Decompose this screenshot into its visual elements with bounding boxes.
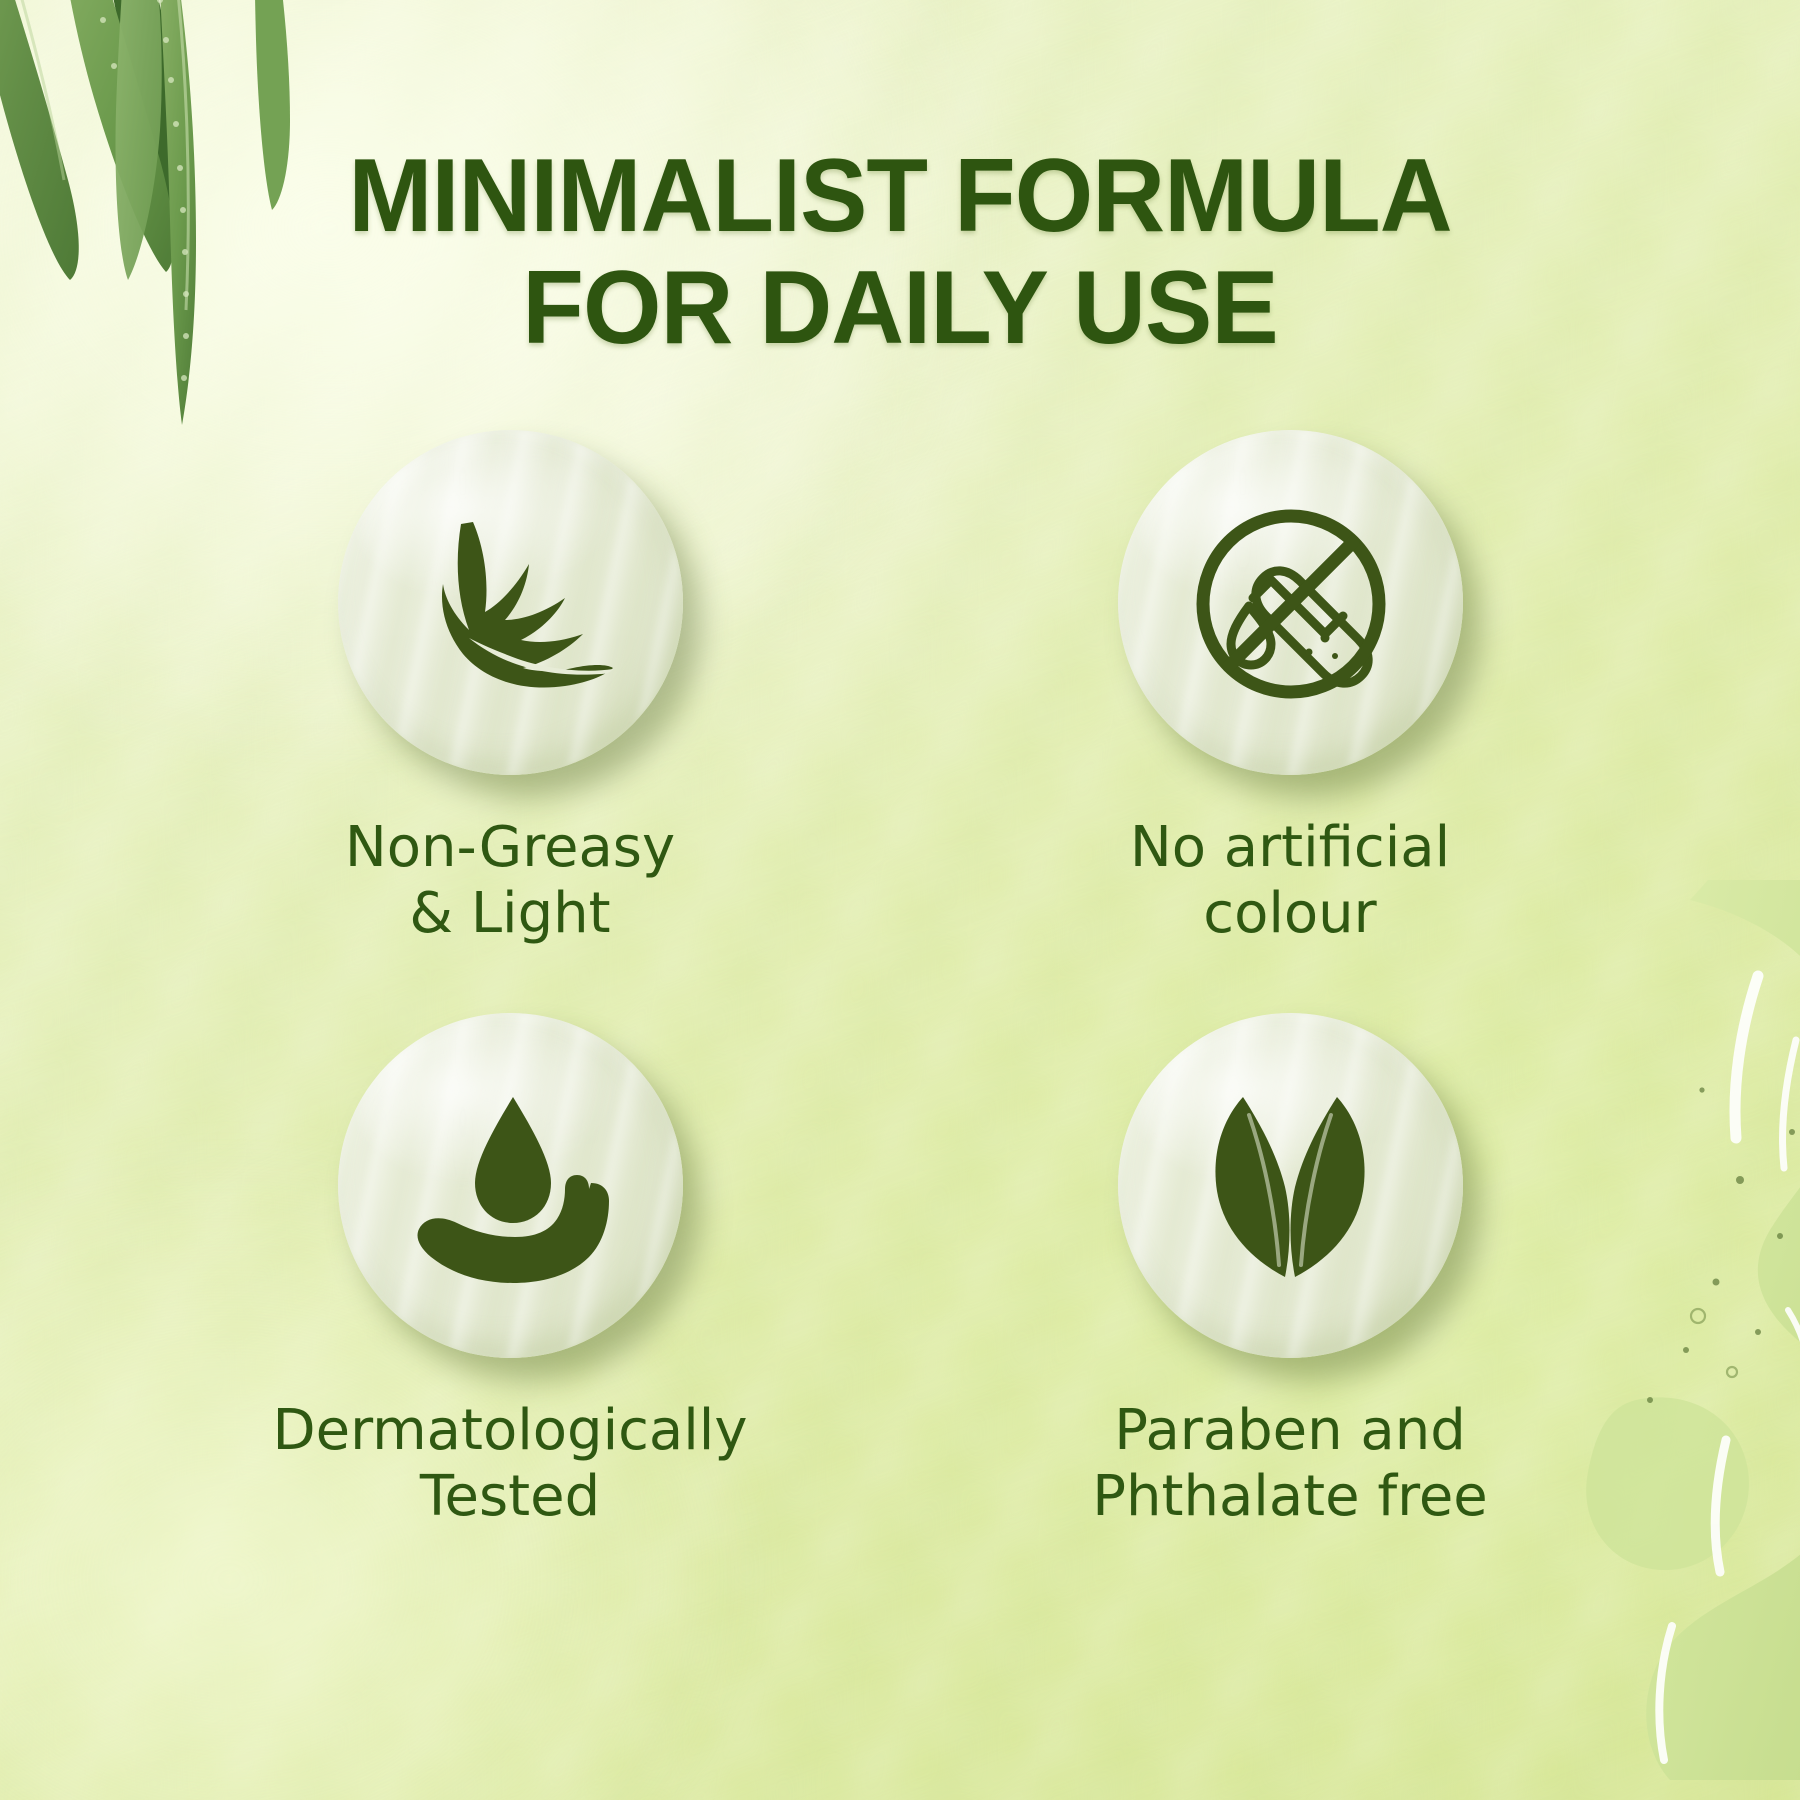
feather-icon (395, 488, 625, 718)
droplet-icon (475, 1097, 551, 1223)
caption-line-1: No artificial (1130, 815, 1450, 880)
feature-item-dermatologically-tested: Dermatologically Tested (120, 1013, 900, 1530)
feature-badge-circle (1118, 430, 1463, 775)
caption-line-1: Dermatologically (273, 1398, 748, 1463)
page-title: MINIMALIST FORMULA FOR DAILY USE (27, 140, 1773, 365)
feature-grid: Non-Greasy & Light (120, 430, 1680, 1530)
test-tube-bubbles (1306, 633, 1339, 659)
content-layer: MINIMALIST FORMULA FOR DAILY USE Non-Gre… (0, 0, 1800, 1800)
caption-line-2: colour (1130, 881, 1450, 947)
title-line-2: FOR DAILY USE (27, 252, 1773, 364)
feature-caption: Non-Greasy & Light (345, 815, 675, 947)
feature-item-paraben-free: Paraben and Phthalate free (900, 1013, 1680, 1530)
caption-line-1: Paraben and (1114, 1398, 1466, 1463)
caption-line-2: & Light (345, 881, 675, 947)
caption-line-2: Tested (273, 1464, 748, 1530)
no-test-tube-icon (1175, 488, 1405, 718)
caption-line-2: Phthalate free (1092, 1464, 1488, 1530)
feature-item-non-greasy: Non-Greasy & Light (120, 430, 900, 947)
feature-caption: Paraben and Phthalate free (1092, 1398, 1488, 1530)
feature-badge-circle (338, 1013, 683, 1358)
feature-caption: No artificial colour (1130, 815, 1450, 947)
feature-caption: Dermatologically Tested (273, 1398, 748, 1530)
caption-line-1: Non-Greasy (345, 815, 675, 880)
feature-badge-circle (338, 430, 683, 775)
two-leaves-icon (1175, 1071, 1405, 1301)
feature-item-no-artificial-colour: No artificial colour (900, 430, 1680, 947)
title-line-1: MINIMALIST FORMULA (348, 138, 1451, 254)
feature-badge-circle (1118, 1013, 1463, 1358)
droplet-in-hand-icon (395, 1071, 625, 1301)
infographic-canvas: MINIMALIST FORMULA FOR DAILY USE Non-Gre… (0, 0, 1800, 1800)
